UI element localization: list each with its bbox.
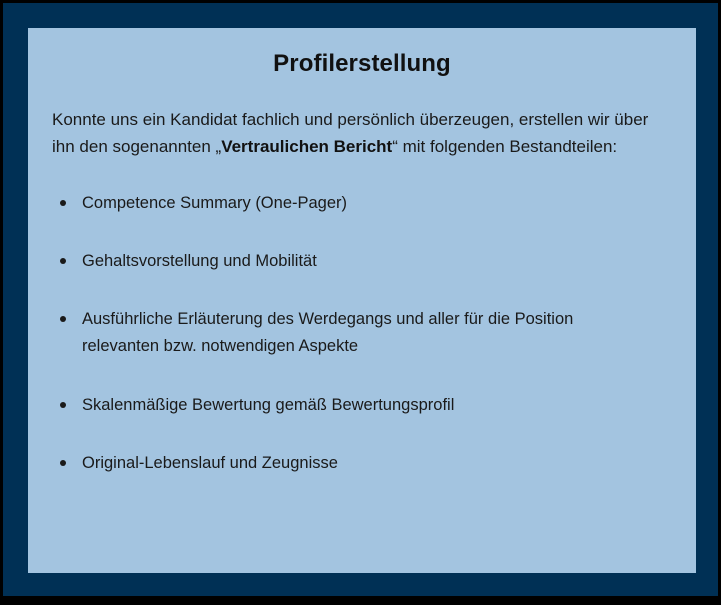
bullet-point-icon	[60, 402, 66, 408]
slide-canvas: Profilerstellung Konnte uns ein Kandidat…	[0, 0, 721, 605]
bullet-point-icon	[60, 460, 66, 466]
bullet-point-icon	[60, 316, 66, 322]
slide-content-panel: Profilerstellung Konnte uns ein Kandidat…	[28, 28, 696, 573]
list-item-label: Competence Summary (One-Pager)	[82, 194, 347, 212]
intro-text-after-emphasis: “ mit folgenden Bestandteilen:	[392, 137, 617, 156]
page-title: Profilerstellung	[28, 28, 696, 79]
list-item: Skalenmäßige Bewertung gemäß Bewertungsp…	[60, 392, 652, 419]
slide-navy-frame: Profilerstellung Konnte uns ein Kandidat…	[3, 3, 718, 596]
list-item: Gehaltsvorstellung und Mobilität	[60, 248, 652, 275]
bullet-point-icon	[60, 258, 66, 264]
list-item: Original-Lebenslauf und Zeugnisse	[60, 450, 652, 477]
list-item-label: Ausführliche Erläuterung des Werdegangs …	[82, 310, 573, 355]
list-item: Competence Summary (One-Pager)	[60, 190, 652, 217]
components-bullet-list: Competence Summary (One-Pager) Gehaltsvo…	[28, 160, 696, 477]
list-item: Ausführliche Erläuterung des Werdegangs …	[60, 306, 652, 360]
bullet-point-icon	[60, 200, 66, 206]
list-item-label: Skalenmäßige Bewertung gemäß Bewertungsp…	[82, 396, 454, 414]
list-item-label: Gehaltsvorstellung und Mobilität	[82, 252, 317, 270]
intro-emphasis-vertraulicher-bericht: Vertraulichen Bericht	[221, 137, 392, 156]
intro-paragraph: Konnte uns ein Kandidat fachlich und per…	[28, 79, 696, 160]
list-item-label: Original-Lebenslauf und Zeugnisse	[82, 454, 338, 472]
